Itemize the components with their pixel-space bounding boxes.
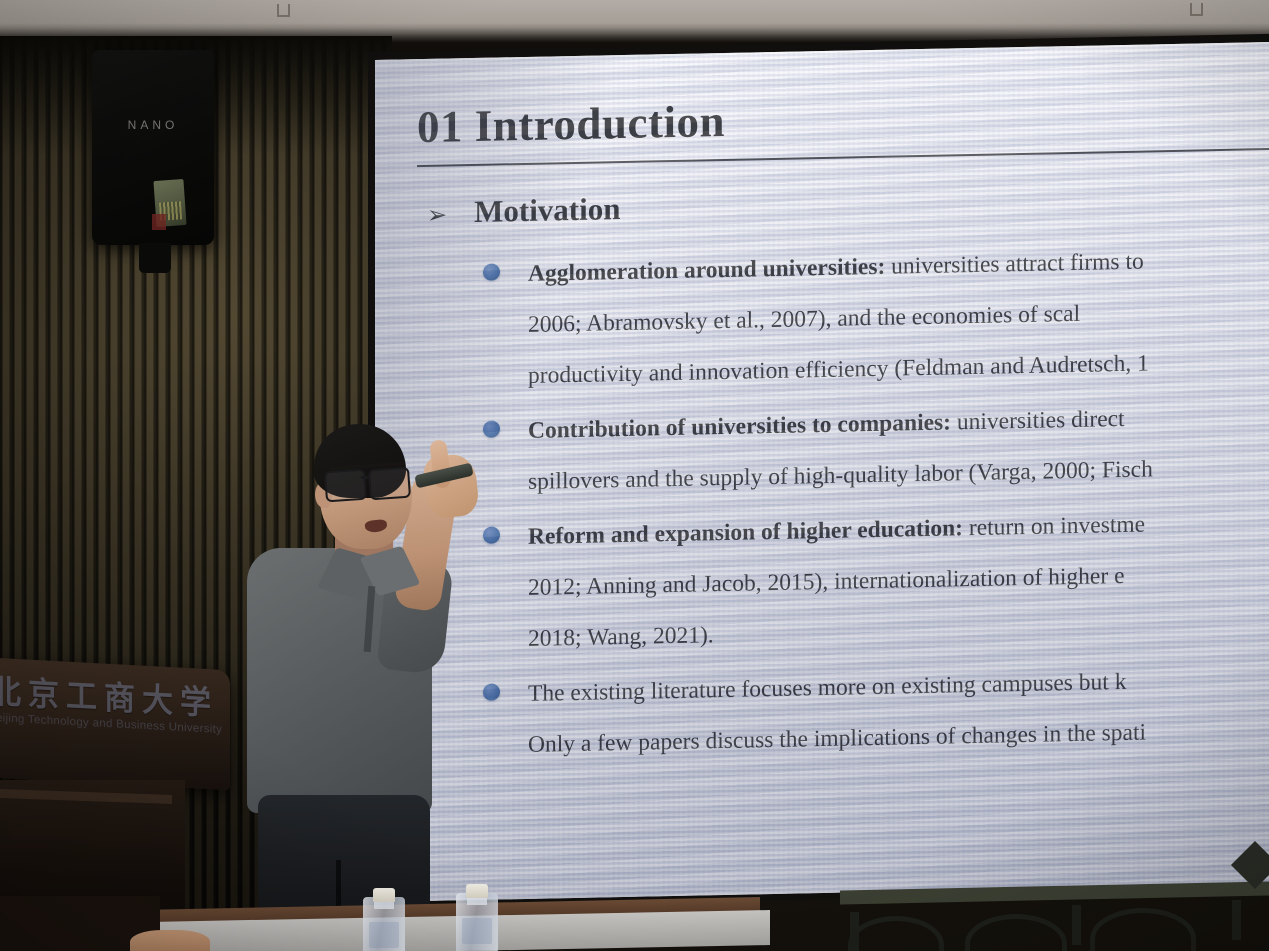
slide-section-heading: ➢ Motivation: [427, 191, 620, 231]
ceiling-clip-icon: [1190, 3, 1203, 16]
bullet-text-block: Contribution of universities to companie…: [528, 391, 1269, 508]
chair-back: [965, 914, 1067, 951]
blue-bullet-icon: [483, 420, 500, 437]
arrow-bullet-icon: ➢: [427, 203, 447, 227]
bullet-line: return on investme: [963, 512, 1145, 542]
chair-post: [1232, 900, 1241, 940]
blue-bullet-icon: [483, 526, 500, 543]
water-bottle-cap: [373, 888, 395, 902]
speaker-brand-label: NANO: [92, 118, 214, 132]
presentation-slide: 01 Introduction ➢ Motivation Agglomerati…: [375, 42, 1269, 902]
bullet-line: universities direct: [951, 406, 1125, 435]
chair-post: [1072, 905, 1081, 945]
slide-bullet-item: Reform and expansion of higher education…: [483, 497, 1269, 666]
slide-bullet-item: Agglomeration around universities: unive…: [483, 234, 1269, 403]
projection-screen: 01 Introduction ➢ Motivation Agglomerati…: [375, 42, 1269, 902]
bullet-lead: Contribution of universities to companie…: [528, 409, 951, 443]
slide-bullet-item: Contribution of universities to companie…: [483, 391, 1269, 509]
blue-bullet-icon: [483, 263, 500, 280]
bullet-text-block: Reform and expansion of higher education…: [528, 497, 1269, 665]
section-heading-label: Motivation: [474, 191, 620, 230]
bullet-text-block: The existing literature focuses more on …: [528, 654, 1269, 771]
water-bottle-label: [369, 922, 399, 948]
slide-title: 01 Introduction: [417, 95, 725, 153]
slide-bullet-list: Agglomeration around universities: unive…: [483, 234, 1269, 776]
audience-hand: [130, 930, 210, 951]
glasses-lens-right-icon: [368, 467, 411, 501]
slide-bullet-item: The existing literature focuses more on …: [483, 654, 1269, 772]
bullet-lead: Reform and expansion of higher education…: [528, 515, 963, 550]
water-bottle-label: [462, 918, 492, 944]
title-divider: [417, 148, 1269, 167]
lecture-hall-photo: NANO 01 Introduction ➢ Motivation Agglom…: [0, 0, 1269, 951]
chair-post: [850, 912, 859, 951]
chair-back: [848, 916, 944, 951]
speaker-logo-icon: [152, 214, 166, 230]
bullet-text-block: Agglomeration around universities: unive…: [528, 234, 1269, 402]
glasses-lens-left-icon: [324, 469, 367, 503]
bullet-line: universities attract firms to: [885, 249, 1143, 280]
ceiling-clip-icon: [277, 4, 290, 17]
water-bottle-cap: [466, 884, 488, 898]
speaker-mount-bracket: [139, 243, 171, 273]
blue-bullet-icon: [483, 683, 500, 700]
chair-back: [1090, 908, 1196, 951]
bullet-lead: Agglomeration around universities:: [528, 254, 885, 287]
glasses-bridge-icon: [361, 476, 370, 479]
